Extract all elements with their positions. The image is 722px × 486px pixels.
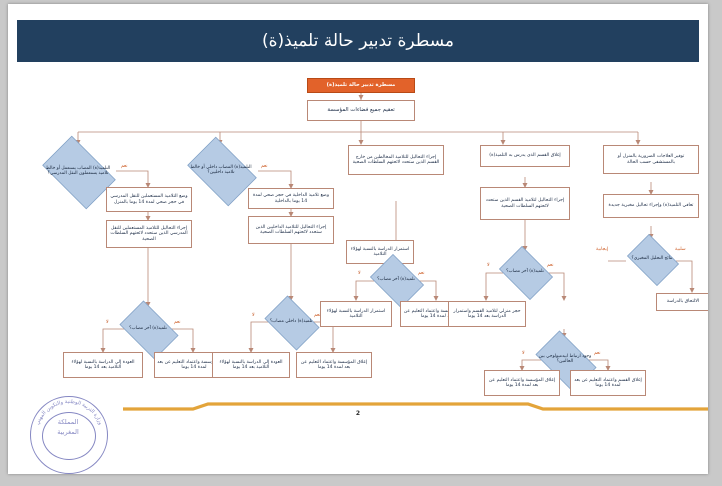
stamp-kingdom-text: المملكة المغربية <box>42 418 94 438</box>
stamp-line-2: المغربية <box>42 428 94 438</box>
decision-label: تلميذ(ة) داخلي مصاب؟ <box>260 300 322 344</box>
edge-label-yes-other1: نعم <box>174 320 181 325</box>
edge-label-yes-other2: نعم <box>418 271 425 276</box>
page-number: 2 <box>348 410 368 417</box>
node-back-study-2: العودة إلى الدراسة بالنسبة لهؤلاء التلام… <box>212 352 290 378</box>
document-page: مسطرة تدبير حالة تلميذ(ة) <box>8 4 708 474</box>
node-sanitize-facility: تعقيم جميع فضاءات المؤسسة <box>307 100 415 121</box>
edge-label-no-other1: لا <box>106 320 109 325</box>
node-transport-quarantine: وضع التلاميذ المستعملين للنقل المدرسي في… <box>106 187 192 212</box>
node-procedure-title: مسطرة تدبير حالة تلميذ(ة) <box>307 78 415 93</box>
edge-label-no-boarding-case: لا <box>252 313 255 318</box>
node-boarding-quarantine: وضع تلاميذ الداخلية في حجر صحي لمدة 14 ي… <box>248 188 334 209</box>
decision-other-student-case-2: تلميذ(ة) آخر مصاب؟ <box>366 258 426 302</box>
node-necessary-care: توفير العلاجات الضرورية بالمنزل أو بالمس… <box>603 145 699 174</box>
decision-label: نتائج التحليل المخبري؟ <box>623 238 681 280</box>
edge-label-negative-lab: سلبية <box>675 247 686 252</box>
decision-label: تلميذ(ة) آخر مصاب؟ <box>114 306 182 352</box>
node-transport-tests: إجراء التحاليل للتلاميذ المستعملين للنقل… <box>106 220 192 248</box>
decision-label: تلميذ(ة) آخر مصاب؟ <box>366 258 426 302</box>
stamp-line-1: المملكة <box>42 418 94 428</box>
decision-transport-case: تلميذ(ة) آخر مصاب؟ <box>495 250 555 294</box>
decision-other-student-case-1: تلميذ(ة) آخر مصاب؟ <box>114 306 182 352</box>
edge-label-no-epi: لا <box>522 351 525 356</box>
decision-lab-result: نتائج التحليل المخبري؟ <box>623 238 681 280</box>
node-back-study-1: العودة إلى الدراسة بالنسبة لهؤلاء التلام… <box>63 352 143 378</box>
decision-label: تلميذ(ة) آخر مصاب؟ <box>495 250 555 294</box>
edge-label-no-other2: لا <box>358 271 361 276</box>
official-stamp: وزارة التربية الوطنية والتكوين المهني ال… <box>30 396 108 474</box>
node-close-class: إغلاق القسم الذي يدرس به التلميذ(ة) <box>480 145 570 167</box>
edge-label-no-transport-case: لا <box>487 263 490 268</box>
node-outside-contacts-tests: إجراء التحاليل للتلاميذ المخالطين من خار… <box>348 145 444 175</box>
node-close-institution-2: إغلاق المؤسسة واعتماد التعليم عن بعد لمد… <box>296 352 372 378</box>
node-boarding-tests: إجراء التحاليل للتلاميذ الداخليين الذين … <box>248 216 334 244</box>
node-recovery-newtests: تعافي التلميذ(ة) وإجراء تحاليل مخبرية جد… <box>603 194 699 218</box>
flowchart: مسطرة تدبير حالة تلميذ(ة) تعقيم جميع فضا… <box>8 4 708 474</box>
edge-label-yes-boarding: نعم <box>261 164 268 169</box>
edge-label-yes-transport-case: نعم <box>547 263 554 268</box>
decision-boarding-case: تلميذ(ة) داخلي مصاب؟ <box>260 300 322 344</box>
edge-label-yes-transport: نعم <box>121 164 128 169</box>
node-return-to-study: الالتحاق بالدراسة <box>656 293 708 311</box>
edge-label-positive-lab: إيجابية <box>596 247 608 252</box>
edge-label-yes-epi: نعم <box>594 351 601 356</box>
node-close-institution-4: إغلاق المؤسسة واعتماد التعليم عن بعد لمد… <box>484 370 560 396</box>
node-close-class-remote: إغلاق القسم واعتماد التعليم عن بعد لمدة … <box>570 370 646 396</box>
node-home-quarantine: حجر منزلي لتلاميذ القسم واستمرار الدراسة… <box>448 301 526 327</box>
node-class-tests: إجراء التحاليل لتلاميذ القسم الذين ستحدد… <box>480 187 570 220</box>
node-continue-study-group: استمرار الدراسة بالنسبة لهؤلاء التلاميذ <box>320 301 392 327</box>
